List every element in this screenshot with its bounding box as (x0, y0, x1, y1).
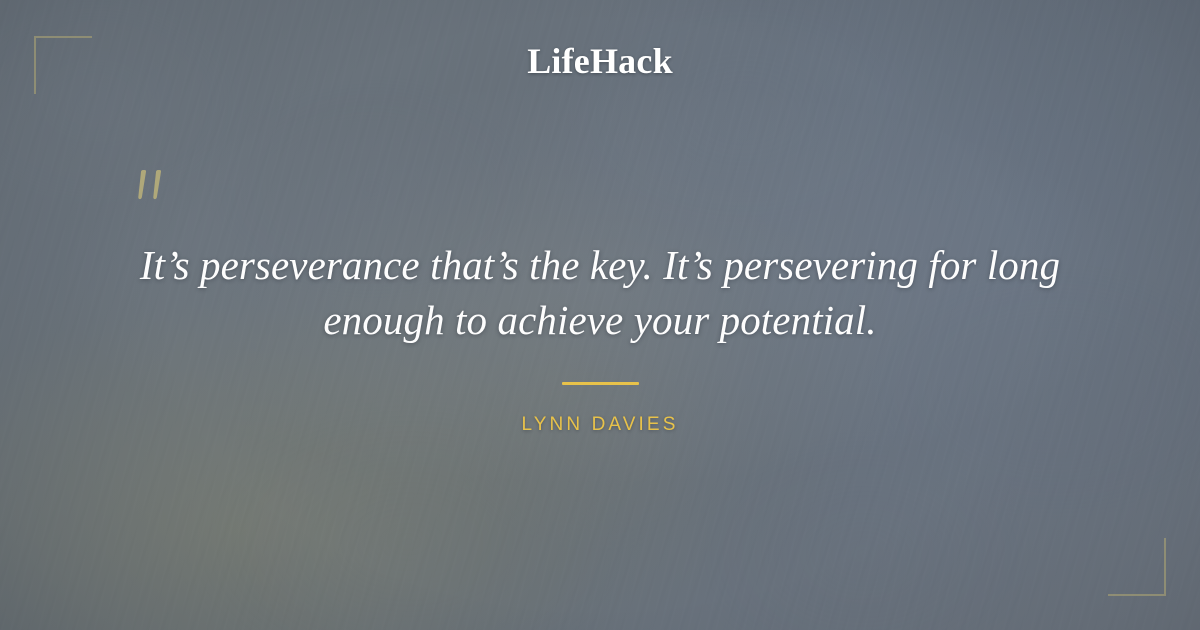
author-attribution: LYNN DAVIES (0, 414, 1200, 436)
quote-line-2: enough to achieve your potential. (100, 293, 1100, 348)
divider-container (0, 382, 1200, 385)
quotation-mark-icon (132, 166, 174, 214)
quote-line-1: It’s perseverance that’s the key. It’s p… (100, 238, 1100, 293)
lifehack-logo: LifeHack (0, 40, 1200, 82)
quote-text: It’s perseverance that’s the key. It’s p… (100, 238, 1100, 348)
quote-card: LifeHack It’s perseverance that’s the ke… (0, 0, 1200, 630)
gold-divider-rule (562, 382, 639, 385)
corner-bracket-bottom-right-icon (1108, 538, 1166, 596)
